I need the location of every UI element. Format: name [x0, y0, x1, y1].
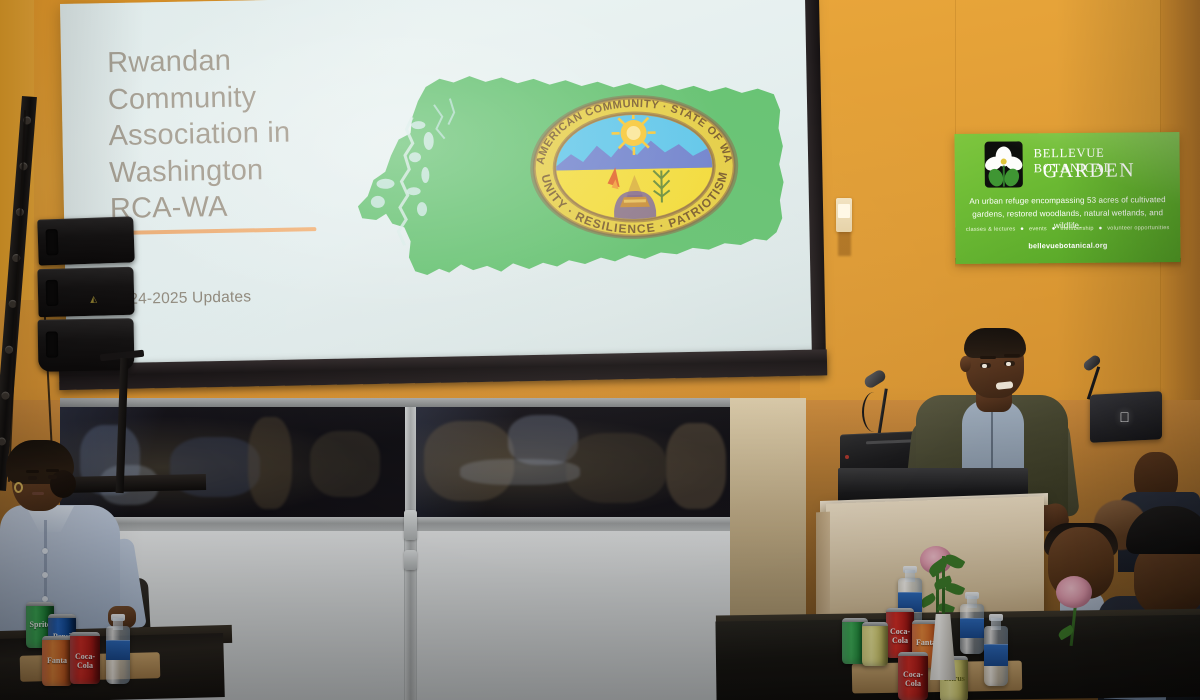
podium-side-panel	[816, 512, 830, 618]
partition-panel-right	[416, 531, 760, 700]
water-bottle	[984, 614, 1008, 688]
apple-logo-icon: 	[1118, 410, 1131, 425]
woman-eye	[48, 475, 57, 479]
rca-wa-seal: RWANDAN AMERICAN COMMUNITY · STATE OF WA…	[518, 81, 751, 253]
screen-surface: Rwandan Community Association in Washing…	[60, 0, 819, 368]
speaker-eye-white	[1006, 362, 1011, 366]
projection-screen: Rwandan Community Association in Washing…	[60, 0, 819, 396]
coca-cola-can: Coca-Cola	[898, 652, 928, 700]
earring-icon	[14, 482, 23, 493]
bellevue-botanical-banner: BELLEVUE BOTANICAL GARDEN An urban refug…	[954, 132, 1180, 264]
woman-eye	[28, 476, 37, 480]
glass-pane-right	[416, 407, 760, 517]
fanta-can: Fanta	[42, 636, 72, 686]
speaker-ear	[960, 356, 971, 372]
speaker-brow	[1004, 354, 1020, 357]
light-switch[interactable]	[836, 198, 852, 232]
partition-latch[interactable]	[404, 550, 417, 570]
wall-seam	[955, 0, 956, 135]
laptop-led-icon	[845, 455, 849, 459]
presentation-room-photo: Rwandan Community Association in Washing…	[0, 0, 1200, 700]
woman-brow	[26, 470, 39, 473]
woman-mouth	[32, 492, 44, 495]
water-bottle	[106, 614, 130, 686]
coca-cola-can: Coca-Cola	[886, 608, 914, 658]
speaker-eye-white	[982, 364, 987, 368]
woman-brow	[46, 469, 59, 472]
switch-shadow	[838, 230, 851, 256]
glass-pane-left	[60, 407, 405, 517]
speaker-brow	[980, 356, 996, 359]
bottle-label	[106, 640, 130, 660]
partition-header	[60, 398, 760, 407]
water-bottle	[960, 592, 984, 654]
citrus-can	[862, 622, 888, 666]
coca-cola-can: Coca-Cola	[70, 632, 100, 684]
banner-sheen	[954, 132, 1180, 264]
slide-accent-rule	[110, 227, 316, 235]
partition-latch[interactable]	[404, 510, 417, 540]
pink-rose	[1056, 576, 1092, 608]
